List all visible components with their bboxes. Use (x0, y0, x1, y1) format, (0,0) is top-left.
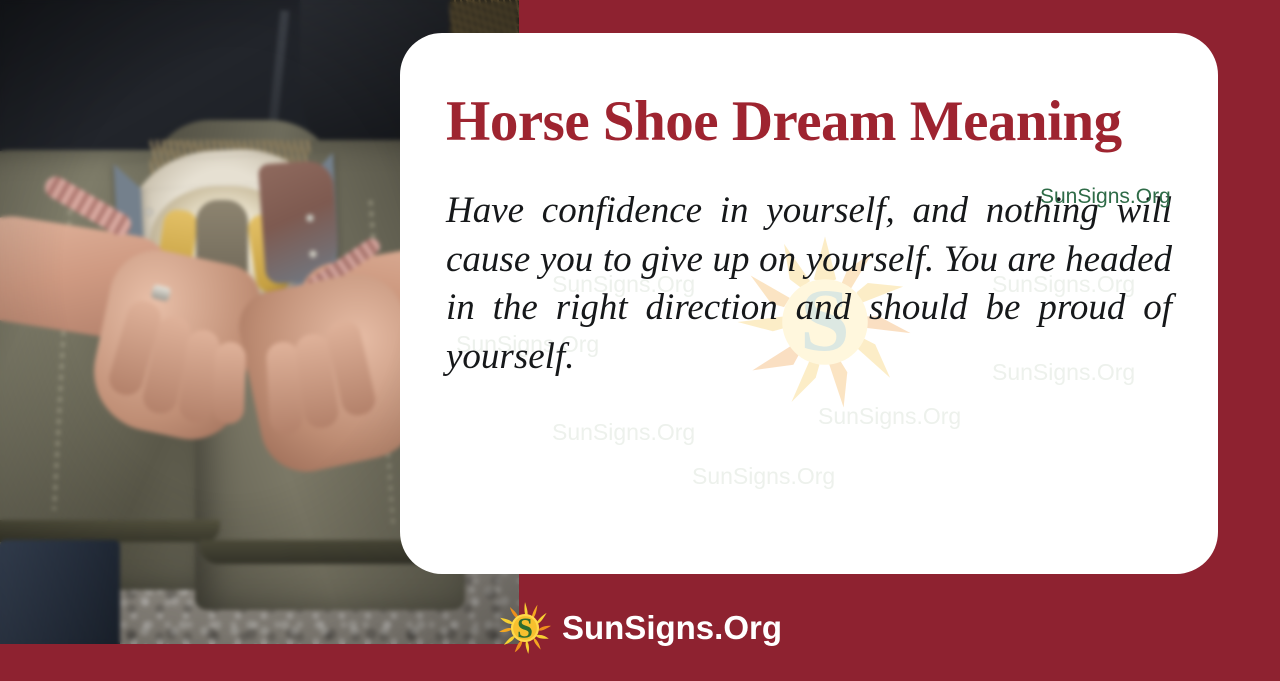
quote-text: Have confidence in yourself, and nothing… (446, 187, 1172, 429)
photo-horseshoe-nail (306, 214, 314, 222)
svg-text:S: S (517, 612, 533, 644)
page-title: Horse Shoe Dream Meaning (446, 93, 1172, 151)
title-watermark-text: SunSigns.Org (1040, 185, 1171, 209)
photo-chaps-hem-left (0, 520, 220, 542)
photo-horseshoe-nail (145, 208, 153, 216)
footer-brand-bar: S SunSigns.Org (0, 574, 1280, 681)
poster-canvas: S SunSigns.OrgSunSigns.OrgSunSigns.OrgSu… (0, 0, 1280, 681)
brand-name: SunSigns.Org (562, 609, 782, 647)
quote-card: S SunSigns.OrgSunSigns.OrgSunSigns.OrgSu… (400, 33, 1218, 574)
sun-logo-icon: S (498, 601, 552, 655)
brand-logo[interactable]: S SunSigns.Org (498, 601, 782, 655)
photo-horseshoe-nail (309, 250, 317, 258)
photo-finger (213, 341, 247, 424)
